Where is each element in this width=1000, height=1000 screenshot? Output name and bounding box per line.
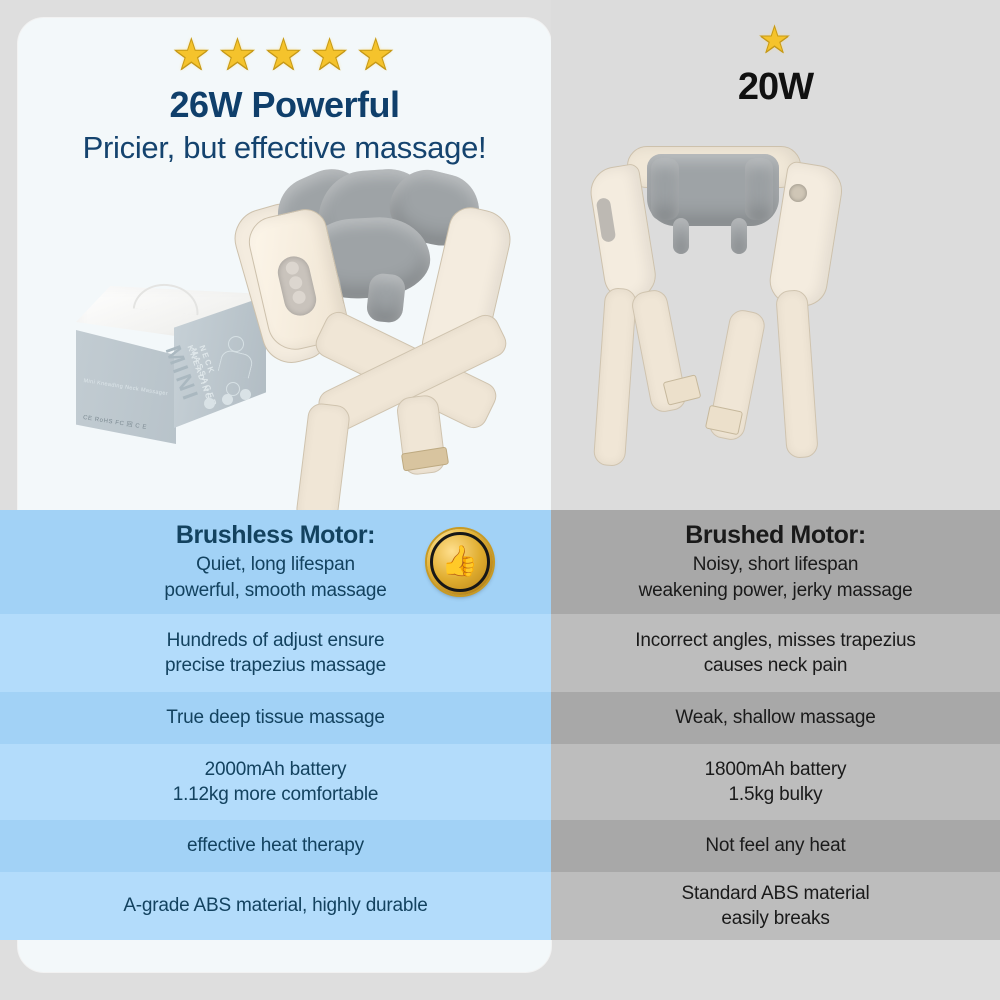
cell-line: precise trapezius massage	[165, 653, 386, 678]
star-icon: ★	[265, 34, 305, 76]
table-row: True deep tissue massage Weak, shallow m…	[0, 692, 1000, 744]
star-icon: ★	[357, 34, 397, 76]
mode-button[interactable]	[288, 275, 304, 291]
massage-node	[366, 272, 407, 324]
comparison-table: Brushless Motor: Quiet, long lifespan po…	[0, 510, 1000, 940]
thumbs-up-badge: 👍	[427, 529, 493, 595]
cell-line: Quiet, long lifespan	[196, 552, 355, 577]
right-title: 20W	[551, 66, 1000, 109]
right-star-rating: ★	[551, 22, 1000, 58]
massager-strap	[775, 289, 819, 459]
cell-line: 2000mAh battery	[205, 757, 347, 782]
table-cell-left: A-grade ABS material, highly durable	[0, 872, 551, 940]
cell-line: powerful, smooth massage	[164, 578, 386, 603]
table-cell-right: Brushed Motor: Noisy, short lifespan wea…	[551, 510, 1000, 614]
cell-line: Hundreds of adjust ensure	[167, 628, 385, 653]
table-cell-right: Standard ABS material easily breaks	[551, 872, 1000, 940]
table-cell-left: True deep tissue massage	[0, 692, 551, 744]
cell-line: effective heat therapy	[187, 833, 364, 858]
cell-line: Noisy, short lifespan	[693, 552, 858, 577]
table-cell-left: Brushless Motor: Quiet, long lifespan po…	[0, 510, 551, 614]
heat-button[interactable]	[291, 290, 307, 306]
cell-line: Standard ABS material	[681, 881, 869, 906]
table-cell-left: 2000mAh battery 1.12kg more comfortable	[0, 744, 551, 820]
table-cell-right: 1800mAh battery 1.5kg bulky	[551, 744, 1000, 820]
star-icon: ★	[758, 22, 792, 58]
thumbs-up-icon: 👍	[441, 547, 478, 577]
cell-line: A-grade ABS material, highly durable	[123, 893, 427, 918]
massage-node	[731, 218, 747, 254]
massage-pad	[745, 158, 773, 220]
massager-strap	[593, 287, 637, 467]
table-row: Hundreds of adjust ensure precise trapez…	[0, 614, 1000, 692]
table-cell-right: Weak, shallow massage	[551, 692, 1000, 744]
star-icon: ★	[172, 34, 212, 76]
cell-heading: Brushed Motor:	[685, 521, 866, 550]
left-subtitle: Pricier, but effective massage!	[18, 130, 551, 166]
cell-line: easily breaks	[721, 906, 829, 931]
massager-strap-tail	[295, 402, 351, 526]
cell-line: Incorrect angles, misses trapezius	[635, 628, 915, 653]
badge-inner-ring: 👍	[430, 532, 490, 592]
cell-line: 1.12kg more comfortable	[173, 782, 379, 807]
table-cell-right: Not feel any heat	[551, 820, 1000, 872]
table-row: effective heat therapy Not feel any heat	[0, 820, 1000, 872]
table-row: 2000mAh battery 1.12kg more comfortable …	[0, 744, 1000, 820]
cell-line: 1800mAh battery	[705, 757, 847, 782]
massage-pad	[651, 158, 679, 220]
left-product-packaging: MINI KNEADING NECK MASSAGER Mini Kneadin…	[76, 286, 266, 444]
massage-node	[673, 218, 689, 254]
table-cell-left: Hundreds of adjust ensure precise trapez…	[0, 614, 551, 692]
left-title: 26W Powerful	[18, 84, 551, 126]
table-row: A-grade ABS material, highly durable Sta…	[0, 872, 1000, 940]
left-massager-product	[250, 178, 551, 523]
right-massager-product	[569, 140, 859, 465]
star-icon: ★	[311, 34, 351, 76]
star-icon: ★	[219, 34, 259, 76]
cell-line: Weak, shallow massage	[675, 705, 875, 730]
comparison-infographic: ★ ★ ★ ★ ★ 26W Powerful Pricier, but effe…	[0, 0, 1000, 1000]
power-button[interactable]	[285, 260, 301, 276]
table-row: Brushless Motor: Quiet, long lifespan po…	[0, 510, 1000, 614]
table-cell-right: Incorrect angles, misses trapezius cause…	[551, 614, 1000, 692]
cell-line: Not feel any heat	[705, 833, 845, 858]
cell-line: causes neck pain	[704, 653, 848, 678]
table-cell-left: effective heat therapy	[0, 820, 551, 872]
box-icon-dot	[222, 394, 233, 405]
cable-port	[789, 184, 807, 202]
cell-line: weakening power, jerky massage	[639, 578, 913, 603]
cell-line: True deep tissue massage	[166, 705, 384, 730]
left-star-rating: ★ ★ ★ ★ ★	[18, 34, 551, 76]
cell-heading: Brushless Motor:	[176, 521, 375, 550]
cell-line: 1.5kg bulky	[729, 782, 823, 807]
